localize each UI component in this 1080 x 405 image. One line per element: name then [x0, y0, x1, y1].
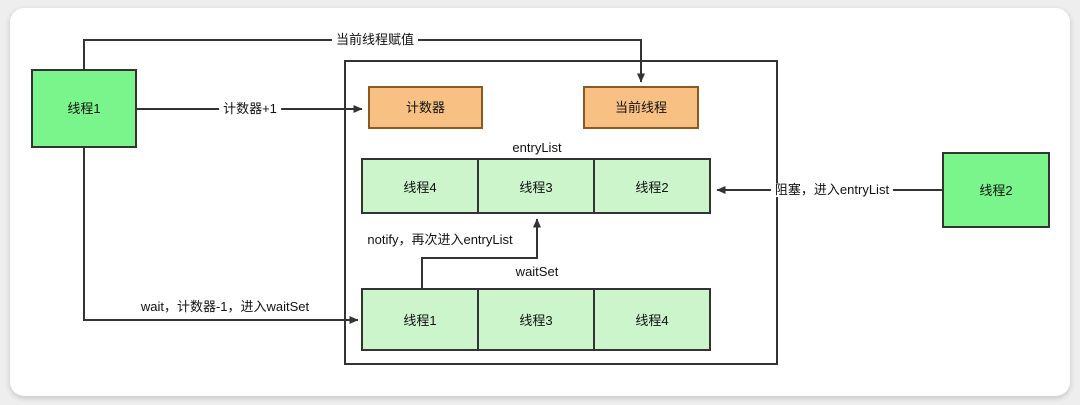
waitset-caption: waitSet: [512, 265, 563, 279]
edge-label-counter-increment: 计数器+1: [219, 102, 281, 116]
edge-label-notify-reenter-entrylist: notify，再次进入entryList: [363, 233, 516, 247]
thread-box-right-label: 线程2: [979, 184, 1012, 197]
waitset-cell-label: 线程4: [635, 310, 668, 329]
connector-wait-counter-decrement: [84, 148, 358, 320]
entrylist-cell-label: 线程4: [403, 177, 436, 196]
current-thread-box-label: 当前线程: [615, 101, 667, 114]
entrylist-queue: 线程4 线程3 线程2: [361, 158, 711, 214]
waitset-cell[interactable]: 线程3: [479, 290, 595, 349]
waitset-queue: 线程1 线程3 线程4: [361, 288, 711, 351]
waitset-cell-label: 线程1: [403, 310, 436, 329]
thread-box-right[interactable]: 线程2: [942, 152, 1050, 228]
counter-box-label: 计数器: [406, 101, 445, 114]
entrylist-cell[interactable]: 线程4: [363, 160, 479, 212]
edge-label-block-enter-entrylist: 阻塞，进入entryList: [771, 183, 893, 197]
entrylist-cell[interactable]: 线程2: [595, 160, 709, 212]
thread-box-left-label: 线程1: [67, 102, 100, 115]
diagram-canvas: 线程1 线程2 计数器 当前线程 entryList 线程4 线程3 线程2 w…: [0, 0, 1080, 405]
entrylist-cell-label: 线程3: [519, 177, 552, 196]
waitset-cell[interactable]: 线程4: [595, 290, 709, 349]
current-thread-box[interactable]: 当前线程: [583, 86, 699, 129]
entrylist-cell-label: 线程2: [635, 177, 668, 196]
waitset-cell-label: 线程3: [519, 310, 552, 329]
thread-box-left[interactable]: 线程1: [31, 69, 137, 148]
counter-box[interactable]: 计数器: [368, 86, 483, 129]
entrylist-cell[interactable]: 线程3: [479, 160, 595, 212]
edge-label-wait-counter-decrement: wait，计数器-1，进入waitSet: [137, 300, 313, 314]
waitset-cell[interactable]: 线程1: [363, 290, 479, 349]
edge-label-current-thread-assign: 当前线程赋值: [332, 33, 418, 47]
entrylist-caption: entryList: [508, 141, 565, 155]
